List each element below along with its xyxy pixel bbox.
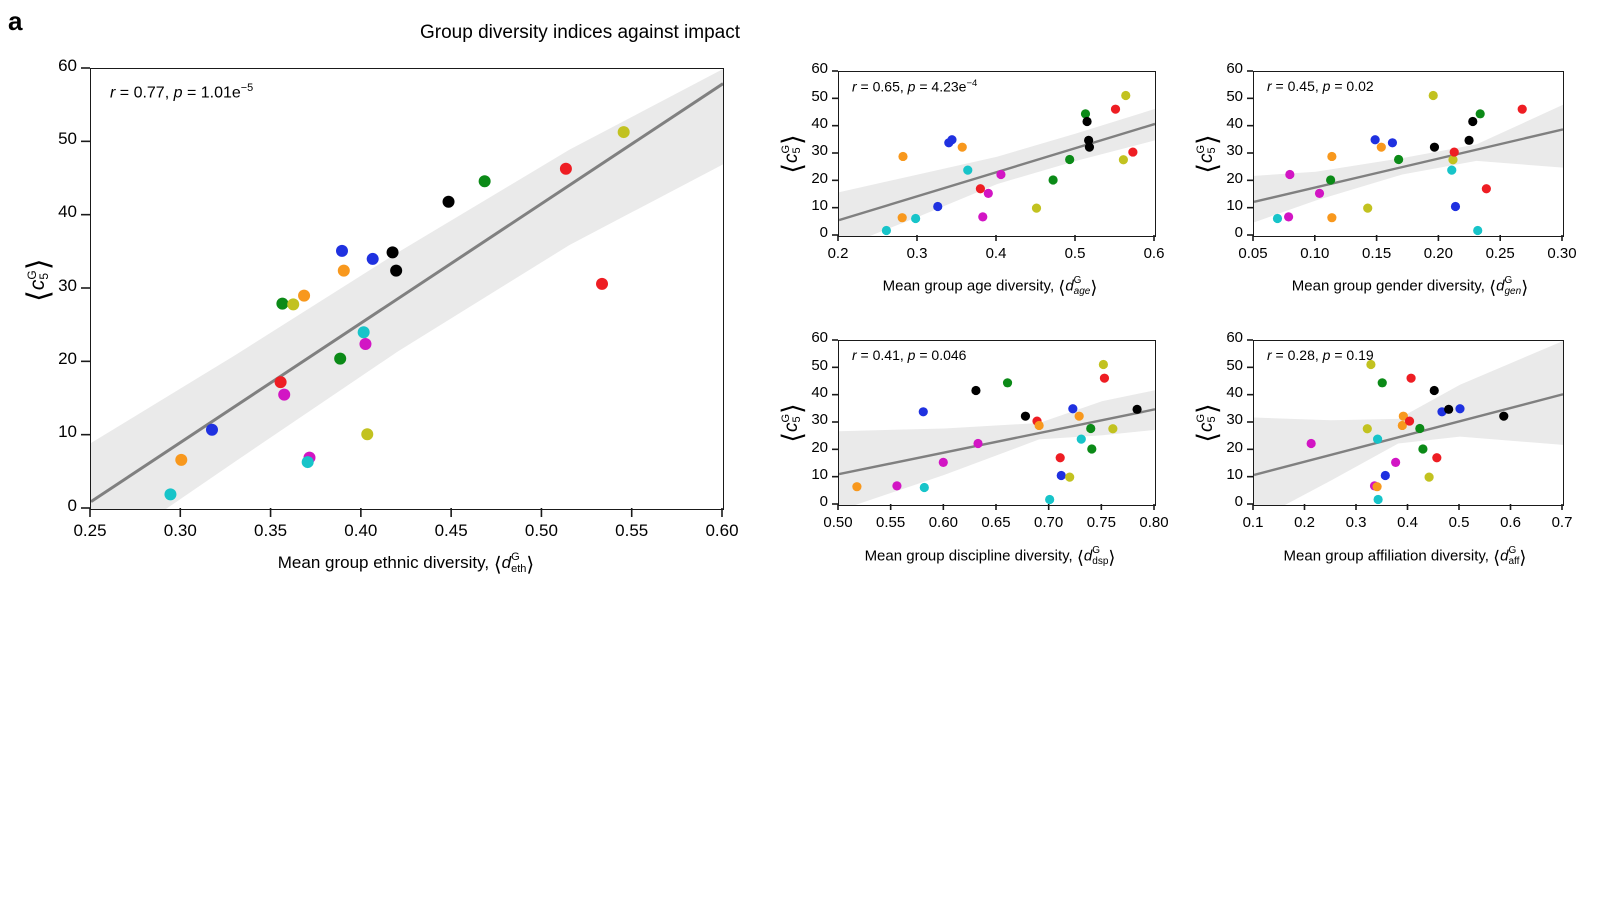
x-tick-label: 0.40 xyxy=(321,521,401,541)
y-tick-label: 0 xyxy=(1183,224,1243,241)
scatter-panel-gender: 0.050.100.150.200.250.300102030405060 ⟨c… xyxy=(1160,0,1600,300)
x-axis-label-discipline: Mean group discipline diversity, ⟨dGdsp⟩ xyxy=(810,546,1170,567)
y-tick-label: 50 xyxy=(17,129,77,149)
y-tick-label: 50 xyxy=(768,88,828,105)
x-tick-label: 0.25 xyxy=(50,521,130,541)
x-tick-label: 0.2 xyxy=(798,245,878,262)
stat-annotation-discipline: r = 0.41, p = 0.046 xyxy=(852,347,966,363)
y-tick-label: 60 xyxy=(768,60,828,77)
y-axis-label-gender: ⟨cG5⟩ xyxy=(1196,114,1218,194)
stat-annotation-age: r = 0.65, p = 4.23e−4 xyxy=(852,78,977,95)
stat-annotation-affiliation: r = 0.28, p = 0.19 xyxy=(1267,347,1374,363)
y-tick-label: 10 xyxy=(768,466,828,483)
x-axis-label-ethnic: Mean group ethnic diversity, ⟨dGeth⟩ xyxy=(90,552,722,575)
scatter-panel-affiliation: 0.10.20.30.40.50.60.70102030405060 ⟨cG5⟩… xyxy=(1160,300,1600,600)
scatter-panel-ethnic: 0.250.300.350.400.450.500.550.6001020304… xyxy=(0,0,760,600)
stat-annotation-ethnic: r = 0.77, p = 1.01e−5 xyxy=(110,82,253,102)
y-tick-label: 10 xyxy=(17,422,77,442)
x-tick-label: 0.35 xyxy=(231,521,311,541)
x-tick-label: 0.55 xyxy=(592,521,672,541)
x-tick-label: 0.5 xyxy=(1035,245,1115,262)
y-tick-label: 50 xyxy=(1183,88,1243,105)
x-axis-label-age: Mean group age diversity, ⟨dGage⟩ xyxy=(820,276,1160,297)
x-tick-label: 0.50 xyxy=(501,521,581,541)
y-tick-label: 20 xyxy=(17,349,77,369)
y-tick-label: 60 xyxy=(1183,60,1243,77)
x-tick-label: 0.3 xyxy=(877,245,957,262)
y-axis-label-ethnic: ⟨cG5⟩ xyxy=(26,240,50,320)
y-tick-label: 0 xyxy=(17,496,77,516)
x-tick-label: 0.60 xyxy=(682,521,762,541)
scatter-panel-discipline: 0.500.550.600.650.700.750.80010203040506… xyxy=(760,300,1160,600)
x-tick-label: 0.30 xyxy=(140,521,220,541)
y-tick-label: 60 xyxy=(768,329,828,346)
y-tick-label: 10 xyxy=(768,197,828,214)
scatter-panel-age: 0.20.30.40.50.60102030405060 ⟨cG5⟩ Mean … xyxy=(760,0,1160,300)
y-axis-label-discipline: ⟨cG5⟩ xyxy=(781,383,803,463)
y-tick-label: 10 xyxy=(1183,197,1243,214)
x-tick-label: 0.45 xyxy=(411,521,491,541)
y-tick-label: 50 xyxy=(1183,357,1243,374)
x-tick-label: 0.30 xyxy=(1522,245,1600,262)
x-axis-label-affiliation: Mean group affiliation diversity, ⟨dGaff… xyxy=(1210,546,1600,567)
y-tick-label: 50 xyxy=(768,357,828,374)
x-tick-label: 0.7 xyxy=(1522,514,1600,531)
stat-annotation-gender: r = 0.45, p = 0.02 xyxy=(1267,78,1374,94)
y-tick-label: 60 xyxy=(1183,329,1243,346)
y-tick-label: 0 xyxy=(768,493,828,510)
y-axis-label-age: ⟨cG5⟩ xyxy=(781,114,803,194)
x-tick-label: 0.4 xyxy=(956,245,1036,262)
y-tick-label: 0 xyxy=(768,224,828,241)
x-axis-label-gender: Mean group gender diversity, ⟨dGgen⟩ xyxy=(1220,276,1600,297)
y-axis-label-affiliation: ⟨cG5⟩ xyxy=(1196,383,1218,463)
y-tick-label: 60 xyxy=(17,56,77,76)
y-tick-label: 10 xyxy=(1183,466,1243,483)
y-tick-label: 40 xyxy=(17,202,77,222)
y-tick-label: 0 xyxy=(1183,493,1243,510)
